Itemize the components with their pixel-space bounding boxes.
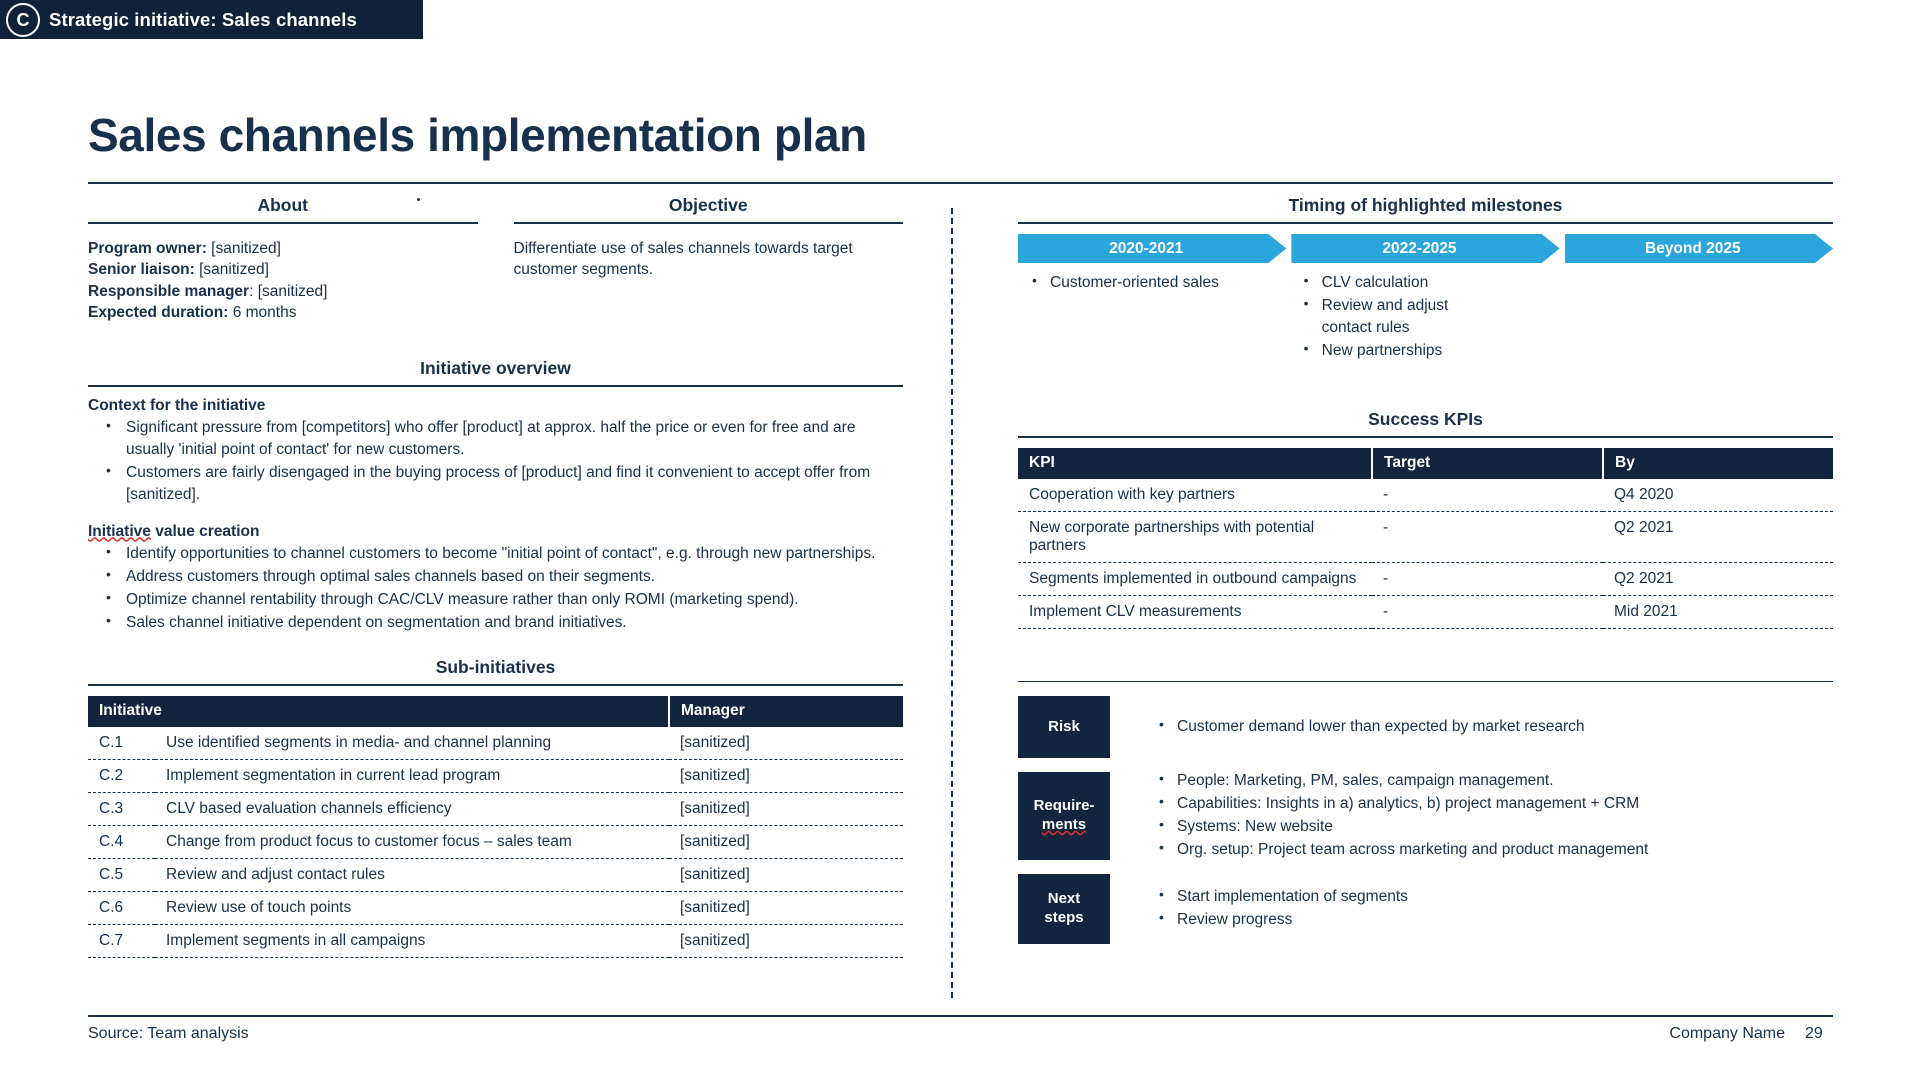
next-steps-label: Nextsteps	[1018, 874, 1110, 944]
cell-name: Change from product focus to customer fo…	[155, 825, 669, 858]
about-row-value: [sanitized]	[195, 261, 269, 278]
success-kpis-rule	[1018, 436, 1833, 438]
cell-manager: [sanitized]	[669, 858, 903, 891]
column-header-kpi: KPI	[1018, 448, 1372, 479]
next-steps-body: Start implementation of segments Review …	[1110, 874, 1833, 944]
table-header-row: KPI Target By	[1018, 448, 1833, 479]
cell-by: Q2 2021	[1603, 563, 1833, 596]
timeline-phase-label: Beyond 2025	[1645, 240, 1741, 258]
table-row: C.1Use identified segments in media- and…	[88, 727, 903, 760]
cell-name: Review and adjust contact rules	[155, 858, 669, 891]
timeline-chevrons: 2020-2021 2022-2025 Beyond 2025	[1018, 234, 1833, 263]
sub-initiatives-table: Initiative Manager C.1Use identified seg…	[88, 696, 903, 958]
table-row: C.4Change from product focus to customer…	[88, 825, 903, 858]
timeline-phase-2: 2022-2025	[1291, 234, 1559, 263]
about-row-label: Expected duration:	[88, 304, 228, 321]
cell-target: -	[1372, 479, 1603, 512]
table-row: C.3CLV based evaluation channels efficie…	[88, 792, 903, 825]
risk-body: Customer demand lower than expected by m…	[1110, 696, 1833, 758]
requirements-item: Org. setup: Project team across marketin…	[1145, 839, 1833, 861]
next-steps-label-line2: steps	[1044, 909, 1083, 926]
cell-name: Implement segments in all campaigns	[155, 924, 669, 957]
cell-manager: [sanitized]	[669, 924, 903, 957]
next-steps-row: Nextsteps Start implementation of segmen…	[1018, 874, 1833, 944]
cell-kpi: New corporate partnerships with potentia…	[1018, 512, 1372, 563]
context-bullet-list: Significant pressure from [competitors] …	[88, 417, 903, 506]
about-row-label: Program owner:	[88, 240, 211, 257]
milestone-list-1: Customer-oriented sales	[1018, 272, 1290, 294]
cell-target: -	[1372, 596, 1603, 629]
page-title: Sales channels implementation plan	[88, 112, 867, 158]
cell-by: Mid 2021	[1603, 596, 1833, 629]
timeline-phase-label: 2020-2021	[1109, 240, 1183, 258]
milestone-column-1: Customer-oriented sales	[1018, 272, 1290, 363]
about-row-value: 6 months	[228, 304, 296, 321]
table-row: Implement CLV measurements-Mid 2021	[1018, 596, 1833, 629]
title-divider	[88, 182, 1833, 184]
about-row-value: : [sanitized]	[249, 283, 327, 300]
objective-heading: Objective	[514, 195, 904, 222]
footer-page-number: 29	[1805, 1025, 1823, 1043]
column-header-manager: Manager	[669, 696, 903, 727]
about-row-value: [sanitized]	[211, 240, 281, 257]
timing-heading: Timing of highlighted milestones	[1018, 195, 1833, 222]
requirements-row: Require-ments People: Marketing, PM, sal…	[1018, 772, 1833, 860]
cell-id: C.2	[88, 759, 155, 792]
cell-id: C.3	[88, 792, 155, 825]
context-heading: Context for the initiative	[88, 397, 903, 415]
requirements-body: People: Marketing, PM, sales, campaign m…	[1110, 772, 1833, 860]
requirements-list: People: Marketing, PM, sales, campaign m…	[1145, 770, 1833, 862]
risk-label: Risk	[1018, 696, 1110, 758]
about-heading: About	[88, 195, 478, 222]
requirements-item: People: Marketing, PM, sales, campaign m…	[1145, 770, 1833, 792]
milestone-list-2: CLV calculation Review and adjust contac…	[1290, 272, 1562, 362]
cell-kpi: Cooperation with key partners	[1018, 479, 1372, 512]
about-row-label: Senior liaison:	[88, 261, 195, 278]
objective-rule	[514, 222, 904, 224]
cell-id: C.5	[88, 858, 155, 891]
value-creation-bullet: Address customers through optimal sales …	[88, 566, 903, 588]
footer-source: Source: Team analysis	[88, 1025, 249, 1043]
sub-initiatives-rule	[88, 684, 903, 686]
objective-panel: Objective Differentiate use of sales cha…	[514, 195, 904, 324]
value-creation-heading-rest: value creation	[151, 523, 260, 540]
initiative-overview-rule	[88, 385, 903, 387]
cell-manager: [sanitized]	[669, 891, 903, 924]
about-rule	[88, 222, 478, 224]
slide-canvas: C Strategic initiative: Sales channels S…	[0, 0, 1920, 1079]
cell-target: -	[1372, 512, 1603, 563]
misspelled-word: Initiative	[88, 523, 151, 540]
table-row: C.2Implement segmentation in current lea…	[88, 759, 903, 792]
strategic-initiative-ribbon: C Strategic initiative: Sales channels	[0, 0, 423, 39]
about-row: Responsible manager: [sanitized]	[88, 281, 478, 302]
value-creation-bullet: Sales channel initiative dependent on se…	[88, 612, 903, 634]
table-row: C.5Review and adjust contact rules[sanit…	[88, 858, 903, 891]
table-header-row: Initiative Manager	[88, 696, 903, 727]
value-creation-bullet-list: Identify opportunities to channel custom…	[88, 543, 903, 634]
footer-divider	[88, 1015, 1833, 1017]
about-row: Program owner: [sanitized]	[88, 238, 478, 259]
about-row-label: Responsible manager	[88, 283, 249, 300]
objective-text: Differentiate use of sales channels towa…	[514, 238, 904, 281]
table-row: Segments implemented in outbound campaig…	[1018, 563, 1833, 596]
cell-id: C.6	[88, 891, 155, 924]
timeline-phase-1: 2020-2021	[1018, 234, 1286, 263]
cell-name: Use identified segments in media- and ch…	[155, 727, 669, 760]
requirements-label-line2: ments	[1042, 816, 1086, 833]
risk-row: Risk Customer demand lower than expected…	[1018, 696, 1833, 758]
cell-kpi: Implement CLV measurements	[1018, 596, 1372, 629]
table-row: C.7Implement segments in all campaigns[s…	[88, 924, 903, 957]
milestone-column-2: CLV calculation Review and adjust contac…	[1290, 272, 1562, 363]
success-kpis-body: Cooperation with key partners-Q4 2020 Ne…	[1018, 479, 1833, 629]
cell-id: C.1	[88, 727, 155, 760]
ribbon-title: Strategic initiative: Sales channels	[49, 9, 357, 31]
right-column: Timing of highlighted milestones 2020-20…	[1018, 195, 1833, 958]
timeline-phase-3: Beyond 2025	[1565, 234, 1833, 263]
next-steps-list: Start implementation of segments Review …	[1145, 886, 1833, 932]
cell-manager: [sanitized]	[669, 727, 903, 760]
risk-list: Customer demand lower than expected by m…	[1145, 716, 1833, 739]
cell-id: C.4	[88, 825, 155, 858]
footer-company: Company Name	[1640, 1025, 1785, 1043]
risk-item: Customer demand lower than expected by m…	[1145, 716, 1833, 738]
milestone-columns: Customer-oriented sales CLV calculation …	[1018, 272, 1833, 363]
table-row: Cooperation with key partners-Q4 2020	[1018, 479, 1833, 512]
context-bullet: Customers are fairly disengaged in the b…	[88, 462, 903, 506]
left-column: About Program owner: [sanitized] Senior …	[88, 195, 903, 958]
about-panel: About Program owner: [sanitized] Senior …	[88, 195, 478, 324]
cell-manager: [sanitized]	[669, 759, 903, 792]
initiative-letter-badge: C	[6, 3, 40, 37]
column-header-initiative: Initiative	[88, 696, 669, 727]
milestone-column-3	[1561, 272, 1833, 363]
about-details: Program owner: [sanitized] Senior liaiso…	[88, 238, 478, 324]
requirements-label: Require-ments	[1018, 772, 1110, 860]
timing-rule	[1018, 222, 1833, 224]
value-creation-bullet: Identify opportunities to channel custom…	[88, 543, 903, 565]
milestone-item: Customer-oriented sales	[1018, 272, 1290, 294]
cell-id: C.7	[88, 924, 155, 957]
cell-manager: [sanitized]	[669, 792, 903, 825]
value-creation-heading: Initiative value creation	[88, 523, 903, 541]
cell-target: -	[1372, 563, 1603, 596]
table-row: New corporate partnerships with potentia…	[1018, 512, 1833, 563]
milestone-item: CLV calculation	[1290, 272, 1562, 294]
about-row: Expected duration: 6 months	[88, 302, 478, 323]
initiative-overview-heading: Initiative overview	[88, 358, 903, 385]
column-header-by: By	[1603, 448, 1833, 479]
cell-by: Q2 2021	[1603, 512, 1833, 563]
requirements-item: Systems: New website	[1145, 816, 1833, 838]
cell-manager: [sanitized]	[669, 825, 903, 858]
next-steps-item: Review progress	[1145, 909, 1833, 931]
next-steps-item: Start implementation of segments	[1145, 886, 1833, 908]
column-header-target: Target	[1372, 448, 1603, 479]
requirements-item: Capabilities: Insights in a) analytics, …	[1145, 793, 1833, 815]
value-creation-bullet: Optimize channel rentability through CAC…	[88, 589, 903, 611]
milestone-item: Review and adjust contact rules	[1290, 295, 1497, 339]
success-kpis-table: KPI Target By Cooperation with key partn…	[1018, 448, 1833, 629]
cell-name: CLV based evaluation channels efficiency	[155, 792, 669, 825]
about-objective-row: About Program owner: [sanitized] Senior …	[88, 195, 903, 324]
cell-kpi: Segments implemented in outbound campaig…	[1018, 563, 1372, 596]
sub-initiatives-body: C.1Use identified segments in media- and…	[88, 727, 903, 958]
success-kpis-heading: Success KPIs	[1018, 409, 1833, 436]
requirements-label-line1: Require-	[1034, 797, 1095, 814]
sub-initiatives-heading: Sub-initiatives	[88, 657, 903, 684]
table-row: C.6Review use of touch points[sanitized]	[88, 891, 903, 924]
cell-name: Review use of touch points	[155, 891, 669, 924]
about-row: Senior liaison: [sanitized]	[88, 259, 478, 280]
column-divider	[951, 208, 953, 998]
milestone-item: New partnerships	[1290, 340, 1562, 362]
cell-name: Implement segmentation in current lead p…	[155, 759, 669, 792]
cell-by: Q4 2020	[1603, 479, 1833, 512]
context-bullet: Significant pressure from [competitors] …	[88, 417, 903, 461]
timeline-phase-label: 2022-2025	[1382, 240, 1456, 258]
next-steps-label-line1: Next	[1048, 890, 1081, 907]
